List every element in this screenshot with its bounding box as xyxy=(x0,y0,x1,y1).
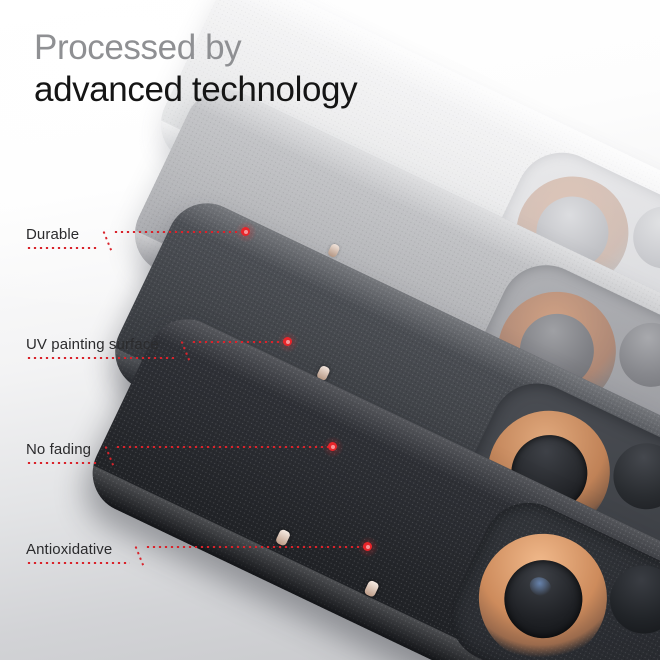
callout-marker[interactable] xyxy=(328,442,337,451)
headline-line-1: Processed by xyxy=(34,28,357,69)
callout-marker[interactable] xyxy=(241,227,250,236)
callout-label: Antioxidative xyxy=(26,541,112,558)
product-feature-image: Processed by advanced technology xyxy=(0,0,660,660)
callout-leader-line xyxy=(145,546,365,548)
callout-leader-line xyxy=(113,231,243,233)
callout-marker[interactable] xyxy=(283,337,292,346)
callout-underline xyxy=(26,562,130,564)
callout-underline xyxy=(26,357,176,359)
callout-leader-line xyxy=(191,341,285,343)
camera-lens-secondary xyxy=(609,312,660,397)
callout-label: Durable xyxy=(26,226,79,243)
callout-leader-line xyxy=(115,446,330,448)
callout-marker[interactable] xyxy=(363,542,372,551)
camera-lens-secondary xyxy=(602,432,660,520)
callout-underline xyxy=(26,462,100,464)
callout-underline xyxy=(26,247,98,249)
callout-label: No fading xyxy=(26,441,91,458)
callout-label: UV painting surface xyxy=(26,336,159,353)
headline-line-2: advanced technology xyxy=(34,70,357,111)
headline-block: Processed by advanced technology xyxy=(34,28,357,110)
